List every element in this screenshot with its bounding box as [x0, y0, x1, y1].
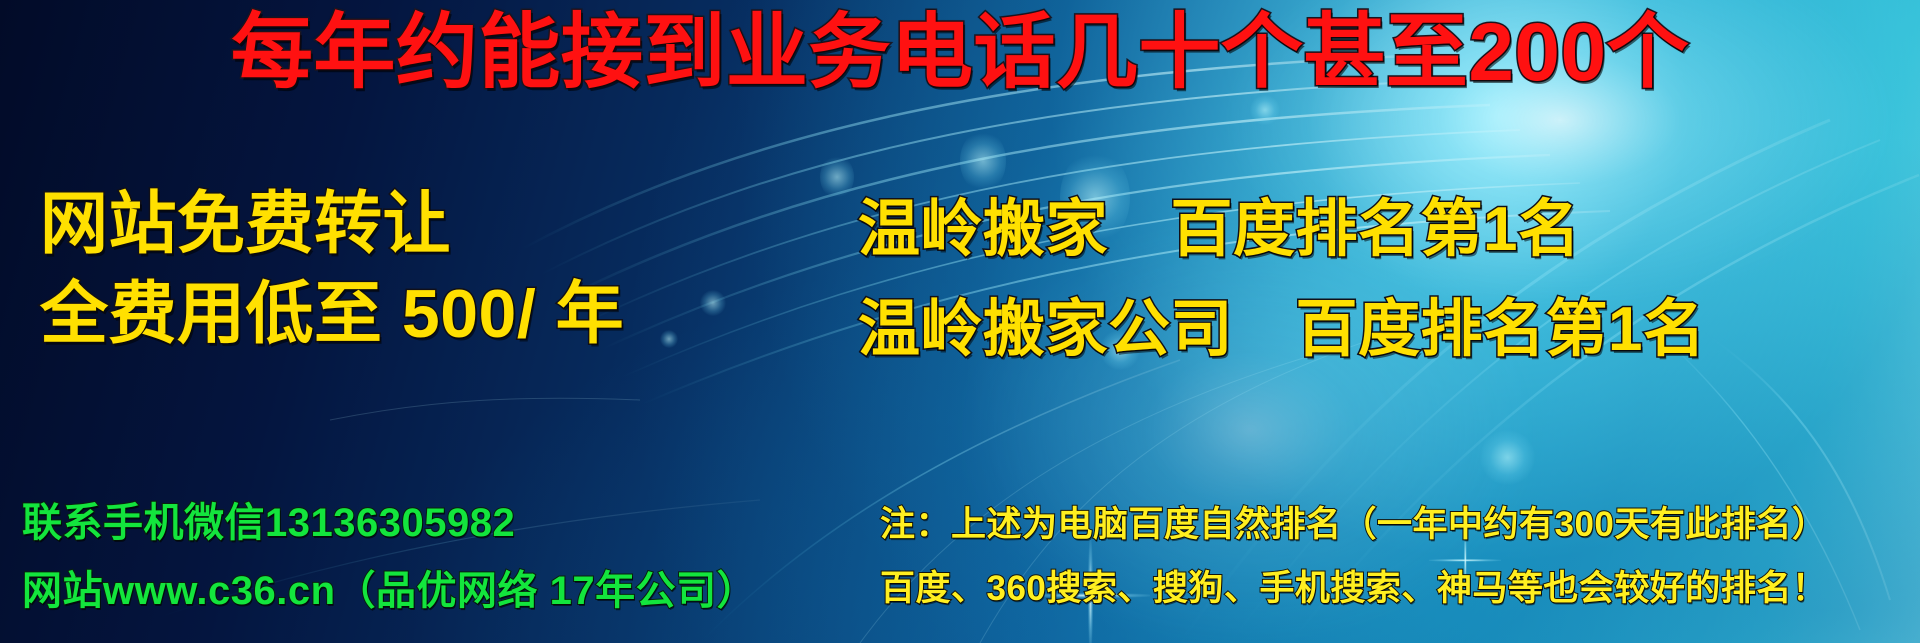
glow-orb-decoration [820, 155, 854, 199]
glow-orb-decoration [660, 330, 678, 348]
note-line-1: 注：上述为电脑百度自然排名（一年中约有300天有此排名） [880, 496, 1827, 547]
headline: 每年约能接到业务电话几十个甚至200个 [0, 12, 1920, 94]
glow-orb-decoration [700, 290, 726, 316]
contact-phone-wechat: 联系手机微信13136305982 [22, 490, 515, 548]
offer-price-line: 全费用低至 500/ 年 [40, 258, 624, 357]
glow-orb-decoration [1480, 430, 1535, 485]
promo-banner: 每年约能接到业务电话几十个甚至200个 网站免费转让 全费用低至 500/ 年 … [0, 0, 1920, 643]
ranking-line-2: 温岭搬家公司 百度排名第1名 [858, 278, 1705, 368]
contact-website: 网站www.c36.cn（品优网络 17年公司） [22, 558, 757, 616]
glow-orb-decoration [1250, 95, 1280, 125]
ranking-line-1: 温岭搬家 百度排名第1名 [858, 178, 1580, 268]
note-line-2: 百度、360搜索、搜狗、手机搜索、神马等也会较好的排名！ [880, 560, 1827, 611]
offer-transfer-line: 网站免费转让 [40, 168, 451, 267]
